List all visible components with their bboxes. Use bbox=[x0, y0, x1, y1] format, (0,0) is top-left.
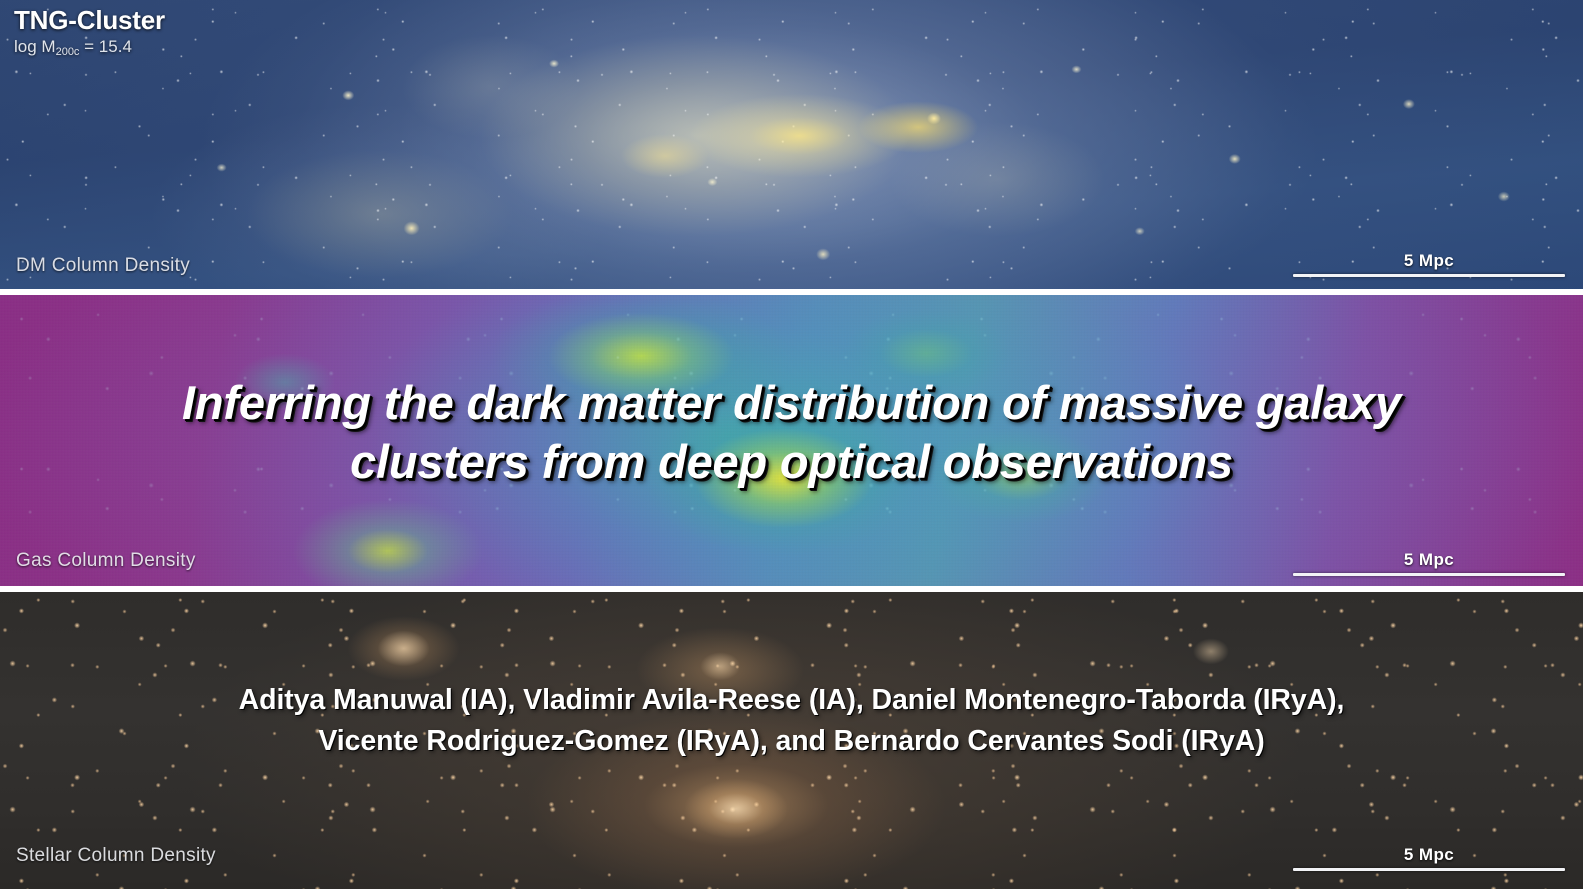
simulation-name: TNG-Cluster bbox=[14, 6, 165, 35]
panel-label-dm: DM Column Density bbox=[16, 255, 190, 277]
scalebar-label-stellar: 5 Mpc bbox=[1293, 846, 1565, 863]
page-title: Inferring the dark matter distribution o… bbox=[0, 373, 1583, 491]
page-title-line-2: clusters from deep optical observations bbox=[18, 432, 1565, 491]
scalebar-gas: 5 Mpc bbox=[1293, 551, 1565, 576]
panel-dm-column-density: TNG-Cluster log M200c = 15.4 DM Column D… bbox=[0, 0, 1583, 289]
dm-cluster-core bbox=[0, 0, 1583, 289]
scalebar-line-gas bbox=[1293, 573, 1565, 576]
scalebar-line-stellar bbox=[1293, 868, 1565, 871]
mass-subscript: 200c bbox=[56, 46, 80, 58]
author-line-2: Vicente Rodriguez-Gomez (IRyA), and Bern… bbox=[40, 721, 1543, 762]
scalebar-label-gas: 5 Mpc bbox=[1293, 551, 1565, 568]
scalebar-line-dm bbox=[1293, 274, 1565, 277]
scalebar-label-dm: 5 Mpc bbox=[1293, 252, 1565, 269]
poster-header-slide: TNG-Cluster log M200c = 15.4 DM Column D… bbox=[0, 0, 1583, 889]
panel-label-gas: Gas Column Density bbox=[16, 550, 196, 572]
page-title-line-1: Inferring the dark matter distribution o… bbox=[18, 373, 1565, 432]
panel-gas-column-density: Inferring the dark matter distribution o… bbox=[0, 295, 1583, 586]
halo-mass-annotation: log M200c = 15.4 bbox=[14, 38, 165, 57]
panel-divider-bottom bbox=[0, 586, 1583, 592]
author-line-1: Aditya Manuwal (IA), Vladimir Avila-Rees… bbox=[40, 680, 1543, 721]
author-list: Aditya Manuwal (IA), Vladimir Avila-Rees… bbox=[0, 680, 1583, 763]
panel-divider-top bbox=[0, 289, 1583, 295]
scalebar-dm: 5 Mpc bbox=[1293, 252, 1565, 277]
simulation-badge: TNG-Cluster log M200c = 15.4 bbox=[14, 6, 165, 56]
panel-label-stellar: Stellar Column Density bbox=[16, 845, 216, 867]
mass-value: = 15.4 bbox=[79, 37, 131, 56]
scalebar-stellar: 5 Mpc bbox=[1293, 846, 1565, 871]
panel-stellar-column-density: Aditya Manuwal (IA), Vladimir Avila-Rees… bbox=[0, 592, 1583, 889]
mass-prefix: log M bbox=[14, 37, 56, 56]
